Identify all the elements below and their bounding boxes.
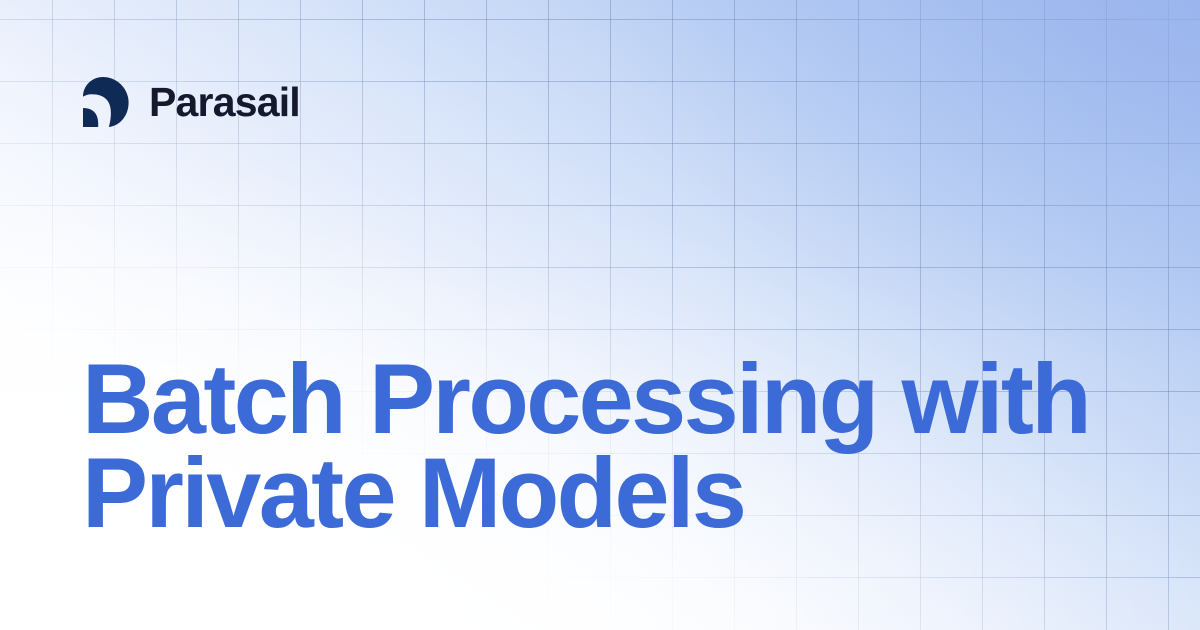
brand-wordmark: Parasail [149, 82, 300, 123]
og-card: Parasail Batch Processing with Private M… [0, 0, 1200, 630]
page-title: Batch Processing with Private Models [82, 352, 1102, 540]
parasail-signal-wave-icon [80, 76, 132, 128]
brand-lockup: Parasail [80, 74, 300, 130]
